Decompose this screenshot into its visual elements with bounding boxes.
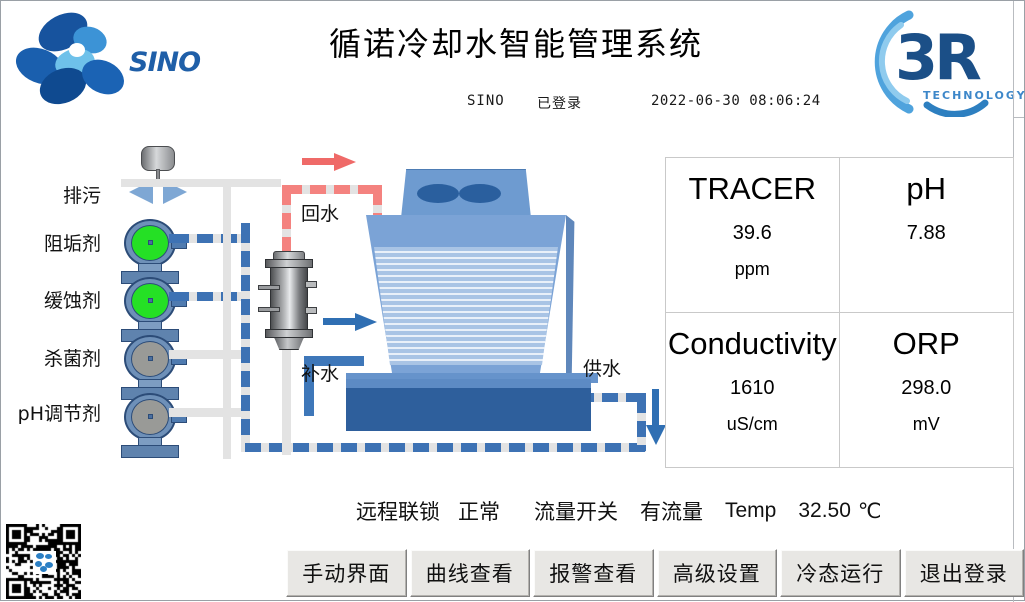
readout-unit: ppm	[735, 259, 770, 280]
status-row: 远程联锁 正常 流量开关 有流量 Temp 32.50 ℃	[356, 496, 882, 526]
chem-label-scale-inhibitor: 阻垢剂	[21, 229, 101, 256]
scada-window: SINO 循诺冷却水智能管理系统 SINO 已登录 2022-06-30 08:…	[0, 0, 1025, 601]
readout-name: pH	[906, 172, 946, 206]
probe-left-lower-icon	[258, 307, 280, 312]
label-makeup-water: 补水	[301, 359, 339, 386]
page-title: 循诺冷却水智能管理系统	[281, 19, 751, 65]
pipe-biocide-dosing	[169, 350, 245, 359]
probe-right-lower-icon	[305, 307, 317, 314]
pipe-scale-inhibitor-dosing	[169, 234, 245, 243]
measurement-panel: TRACER 39.6 ppm pH 7.88 Conductivity 161…	[665, 157, 1014, 468]
readout-value: 7.88	[907, 222, 946, 245]
readout-name: Conductivity	[668, 327, 837, 361]
logout-button[interactable]: 退出登录	[904, 549, 1025, 597]
readout-name: TRACER	[689, 172, 816, 206]
readout-value: 298.0	[901, 377, 951, 400]
qr-code-logo	[33, 551, 56, 574]
probe-right-upper-icon	[305, 281, 317, 288]
qr-code[interactable]	[6, 524, 81, 599]
pump-center-dot-icon	[148, 240, 153, 245]
header: SINO 循诺冷却水智能管理系统 SINO 已登录 2022-06-30 08:…	[1, 1, 1024, 121]
sino-wordmark: SINO	[129, 47, 200, 78]
readout-value: 1610	[730, 377, 775, 400]
readout-tracer: TRACER 39.6 ppm	[666, 158, 840, 313]
vessel-bottom-flange-icon	[265, 329, 313, 338]
cold-run-button[interactable]: 冷态运行	[780, 549, 901, 597]
valve-actuator-icon	[141, 146, 175, 171]
chem-label-ph-adjuster: pH调节剂	[9, 399, 101, 426]
remote-interlock-label: 远程联锁	[356, 496, 440, 526]
pipe-blowdown	[121, 179, 281, 187]
vessel-shell-icon	[270, 267, 308, 331]
pump-ph-adjuster[interactable]	[119, 393, 181, 455]
label-return-water: 回水	[301, 199, 339, 226]
pipe-corrosion-inhibitor-dosing	[169, 292, 245, 301]
tower-fan-housing	[401, 169, 531, 218]
pump-center-dot-icon	[148, 414, 153, 419]
tower-side-shadow	[566, 215, 580, 385]
logged-in-user: SINO	[467, 93, 505, 109]
fan-blade-right-icon	[459, 184, 501, 203]
pipe-dosing-riser	[241, 223, 250, 451]
datetime-display: 2022-06-30 08:06:24	[651, 93, 821, 109]
3r-technology-logo: 3R TECHNOLOGY	[867, 5, 1019, 117]
temp-unit: ℃	[858, 499, 882, 523]
readout-value: 39.6	[733, 222, 772, 245]
pump-scale-inhibitor[interactable]	[119, 219, 181, 281]
temp-value: 32.50	[798, 499, 851, 523]
tower-fill-slats	[366, 247, 566, 365]
sino-logo: SINO	[11, 9, 241, 109]
3r-tagline: TECHNOLOGY	[923, 89, 1025, 102]
pump-base-icon	[121, 445, 179, 458]
readout-unit: uS/cm	[727, 414, 778, 435]
alarm-view-button[interactable]: 报警查看	[533, 549, 654, 597]
readout-conductivity: Conductivity 1610 uS/cm	[666, 313, 840, 468]
manual-interface-button[interactable]: 手动界面	[286, 549, 407, 597]
button-bar: 手动界面 曲线查看 报警查看 高级设置 冷态运行 退出登录	[286, 549, 1024, 597]
flow-switch-label: 流量开关	[534, 496, 618, 526]
label-supply-water: 供水	[583, 354, 621, 381]
pump-biocide[interactable]	[119, 335, 181, 397]
readout-ph: pH 7.88	[840, 158, 1014, 313]
probe-left-upper-icon	[258, 285, 280, 290]
pump-center-dot-icon	[148, 356, 153, 361]
temp-label: Temp	[725, 499, 776, 523]
pipe-blowdown-downleg	[223, 179, 231, 459]
fan-blade-left-icon	[417, 184, 459, 203]
chem-label-corrosion-inhibitor: 缓蚀剂	[21, 286, 101, 313]
cooling-tower	[346, 169, 636, 419]
curve-view-button[interactable]: 曲线查看	[410, 549, 531, 597]
remote-interlock-value: 正常	[458, 496, 500, 526]
readout-unit: mV	[913, 414, 940, 435]
readout-name: ORP	[893, 327, 960, 361]
pipe-return-header	[241, 443, 646, 452]
arrow-supply-water	[646, 389, 666, 447]
sensor-analyzer-vessel[interactable]	[263, 251, 315, 353]
pump-center-dot-icon	[148, 298, 153, 303]
login-status: 已登录	[537, 93, 582, 113]
pipe-supply-water-down	[637, 393, 646, 451]
pump-corrosion-inhibitor[interactable]	[119, 277, 181, 339]
readout-orp: ORP 298.0 mV	[840, 313, 1014, 468]
3r-wordmark: 3R	[895, 21, 978, 94]
chem-label-biocide: 杀菌剂	[21, 344, 101, 371]
vessel-foot-icon	[274, 337, 304, 350]
advanced-settings-button[interactable]: 高级设置	[657, 549, 778, 597]
panel-divider-horizontal	[1013, 117, 1024, 118]
tower-basin	[346, 379, 591, 431]
blowdown-valve-icon[interactable]	[123, 146, 193, 204]
pipe-ph-adjuster-dosing	[169, 408, 245, 417]
chem-label-blowdown: 排污	[21, 181, 101, 208]
flow-switch-value: 有流量	[640, 496, 703, 526]
